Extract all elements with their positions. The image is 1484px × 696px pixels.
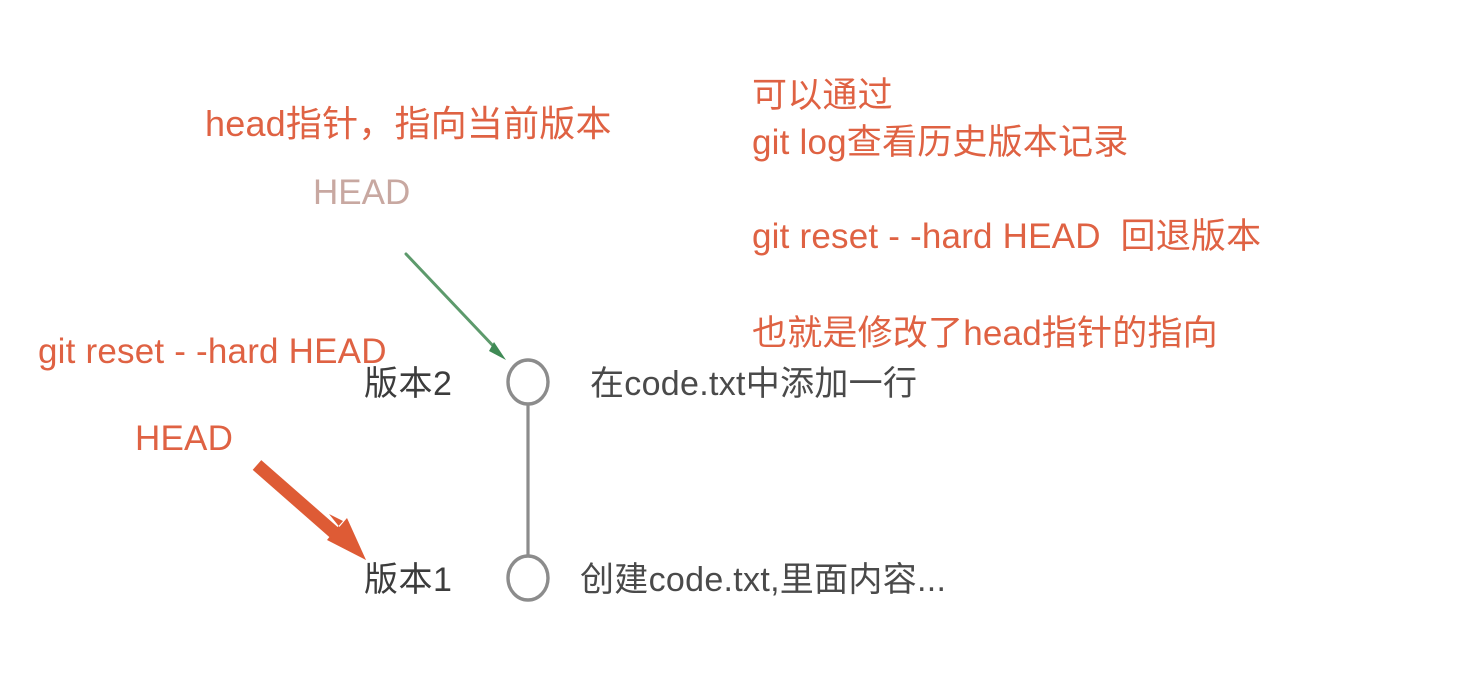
commit-version-label-1: 版本1 xyxy=(364,560,452,600)
commit-node-version2[interactable] xyxy=(508,360,548,404)
head-modify-note: 也就是修改了head指针的指向 xyxy=(752,313,1218,354)
left-head-label: HEAD xyxy=(135,418,233,459)
diagram-canvas: head指针，指向当前版本 HEAD 可以通过 git log查看历史版本记录 … xyxy=(0,0,1484,696)
commit-version-label-2: 版本2 xyxy=(364,364,452,404)
commit-description-2: 在code.txt中添加一行 xyxy=(590,364,917,404)
git-log-note-line1: 可以通过 xyxy=(752,75,893,116)
git-reset-note: git reset - -hard HEAD 回退版本 xyxy=(752,216,1261,257)
commit-node-version1[interactable] xyxy=(508,556,548,600)
commit-description-1: 创建code.txt,里面内容... xyxy=(580,560,946,600)
head-pointer-arrow xyxy=(406,254,506,360)
faded-head-label: HEAD xyxy=(313,172,410,213)
left-git-reset-note: git reset - -hard HEAD xyxy=(38,331,387,372)
git-log-note-line2: git log查看历史版本记录 xyxy=(752,122,1128,163)
reset-head-arrow xyxy=(257,465,366,560)
head-pointer-note: head指针，指向当前版本 xyxy=(205,103,612,145)
